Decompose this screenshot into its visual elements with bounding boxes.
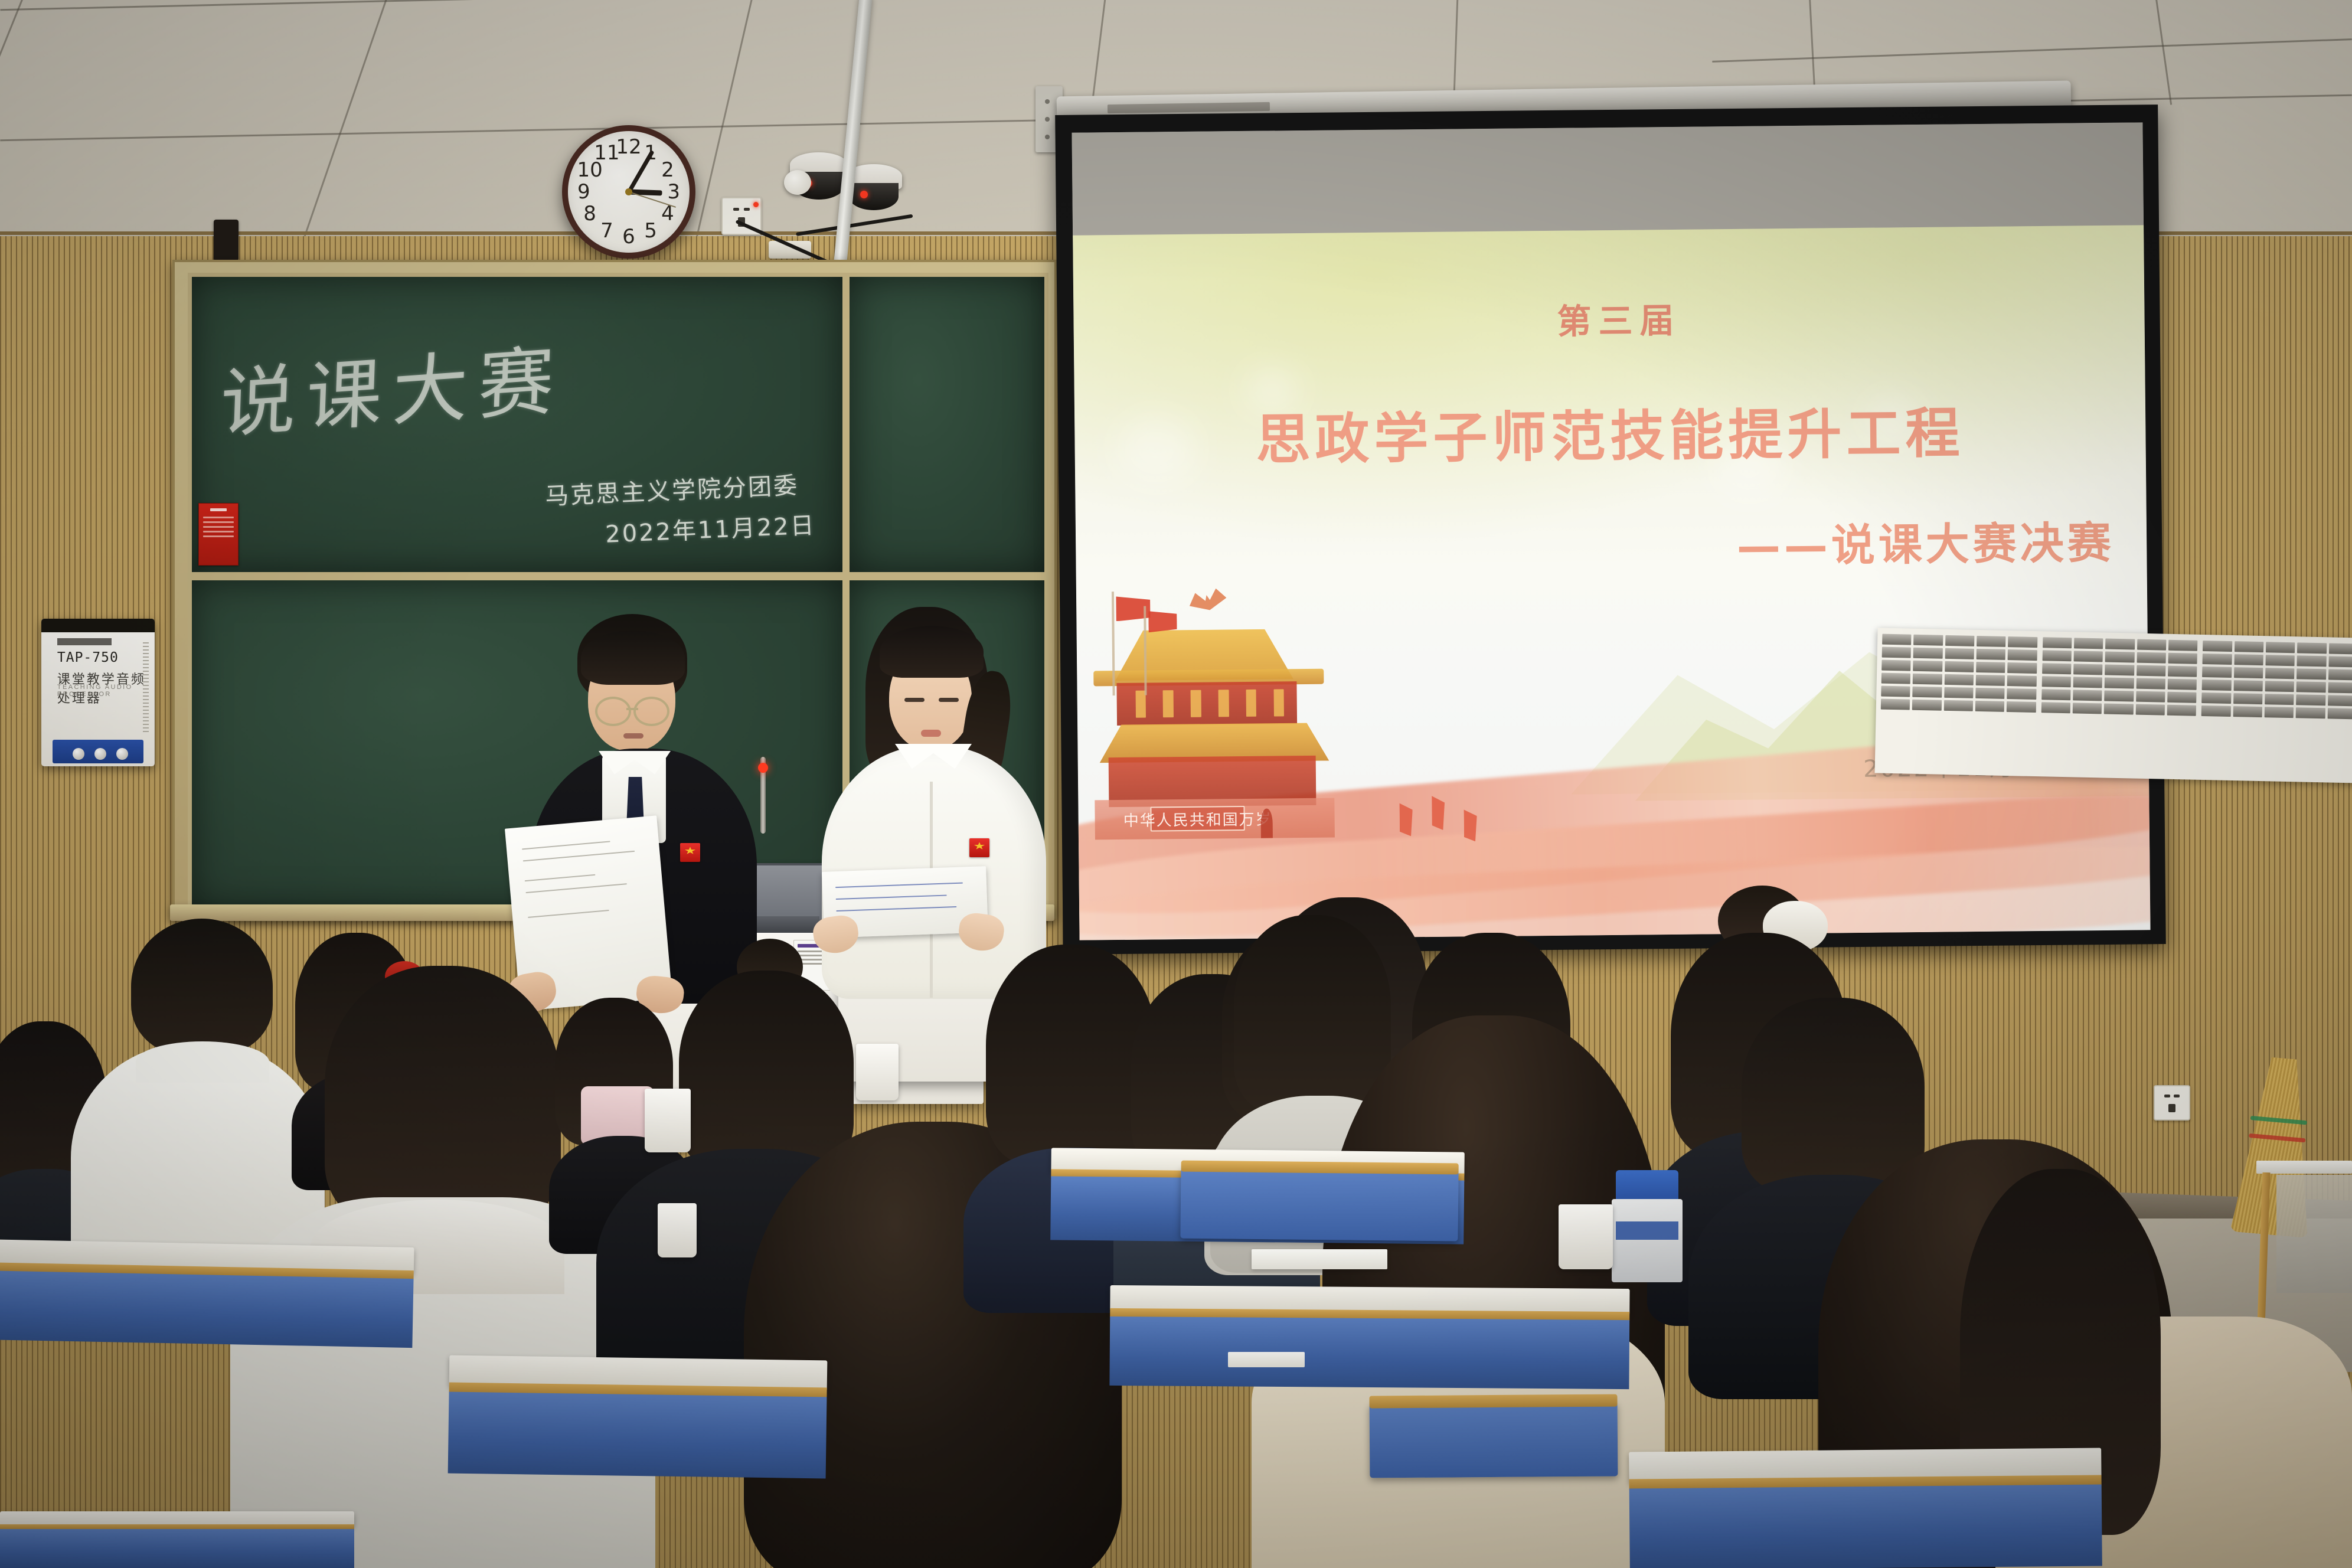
tiananmen-illustration: 中华人民共和国万岁 xyxy=(1097,599,1330,850)
clock-center-pin xyxy=(625,188,632,195)
slide-subtitle: ——说课大赛决赛 xyxy=(1736,507,2115,574)
paper-cup xyxy=(856,1044,899,1100)
slide-banner: 中华人民共和国万岁 xyxy=(1151,806,1245,831)
paper-sheet xyxy=(1252,1249,1387,1269)
slide-title: 思政学子师范技能提升工程 xyxy=(1256,389,1965,475)
side-desk-top xyxy=(2256,1161,2352,1174)
student-photo-board xyxy=(1875,628,2352,783)
audio-unit-model: TAP-750 xyxy=(57,650,119,665)
blackboard-panel-upper-right xyxy=(845,273,1048,576)
clock-numeral: 7 xyxy=(600,219,613,243)
wifi-access-point-icon xyxy=(784,170,811,195)
student-desk xyxy=(448,1355,828,1479)
classroom-photo: 12 1 2 3 4 5 6 7 8 9 10 11 说课大赛 马克思主义 xyxy=(0,0,2352,1568)
clock-numeral: 9 xyxy=(577,180,590,204)
chair-back xyxy=(1370,1402,1618,1478)
safety-notice-card xyxy=(198,503,239,566)
blackboard-signature: 马克思主义学院分团委 xyxy=(544,466,799,512)
blackboard-panel-upper-left: 说课大赛 马克思主义学院分团委 2022年11月22日 xyxy=(188,273,847,576)
clock-numeral: 12 xyxy=(616,135,641,159)
power-socket[interactable] xyxy=(2154,1085,2190,1121)
chair-back xyxy=(1180,1168,1458,1242)
student-desk xyxy=(0,1511,354,1568)
paper-cup xyxy=(658,1203,697,1257)
student-desk xyxy=(1629,1448,2102,1568)
side-desk-panel xyxy=(2276,1175,2352,1293)
clock-numeral: 5 xyxy=(644,219,657,243)
party-badge-pin xyxy=(969,838,989,857)
clock-numeral: 2 xyxy=(661,158,674,182)
slide-kicker: 第三届 xyxy=(1557,293,1681,344)
photo-column xyxy=(2040,637,2197,773)
glasses-icon xyxy=(595,697,669,721)
audio-unit-name-en: TEACHING AUDIO PROCESSOR xyxy=(57,684,155,698)
blackboard-date: 2022年11月22日 xyxy=(605,506,816,549)
photo-column xyxy=(1880,634,2037,770)
slide-banner-text: 中华人民共和国万岁 xyxy=(1123,807,1272,830)
paper-cup xyxy=(1559,1204,1613,1269)
wall-sensor-device xyxy=(214,220,239,261)
clock-numeral: 6 xyxy=(622,225,635,249)
student-desk xyxy=(1109,1285,1629,1389)
clock-numeral: 11 xyxy=(594,141,619,165)
clock-numeral: 8 xyxy=(583,202,596,226)
wall-clock: 12 1 2 3 4 5 6 7 8 9 10 11 xyxy=(562,125,695,259)
red-flag-icon xyxy=(1148,611,1177,632)
party-badge-pin xyxy=(680,843,700,862)
student-desk xyxy=(0,1239,414,1348)
projection-screen[interactable]: 中华人民共和国万岁 第三届 思政学子师范技能提升工程 ——说课大赛决赛 马克思主… xyxy=(1072,122,2150,940)
water-bottle xyxy=(1612,1170,1683,1282)
audio-unit-control-panel[interactable] xyxy=(53,740,143,763)
photo-column xyxy=(2200,641,2352,777)
paper-cup xyxy=(645,1089,691,1152)
clock-numeral: 3 xyxy=(667,180,680,204)
teaching-audio-processor[interactable]: TAP-750 课堂教学音频处理器 TEACHING AUDIO PROCESS… xyxy=(41,619,155,766)
screen-unlit-band xyxy=(1072,122,2144,237)
blackboard-title: 说课大赛 xyxy=(218,319,566,453)
presenter-female xyxy=(809,609,1057,999)
paper-sheet xyxy=(1228,1352,1305,1367)
presentation-slide: 中华人民共和国万岁 第三届 思政学子师范技能提升工程 ——说课大赛决赛 马克思主… xyxy=(1073,225,2150,940)
